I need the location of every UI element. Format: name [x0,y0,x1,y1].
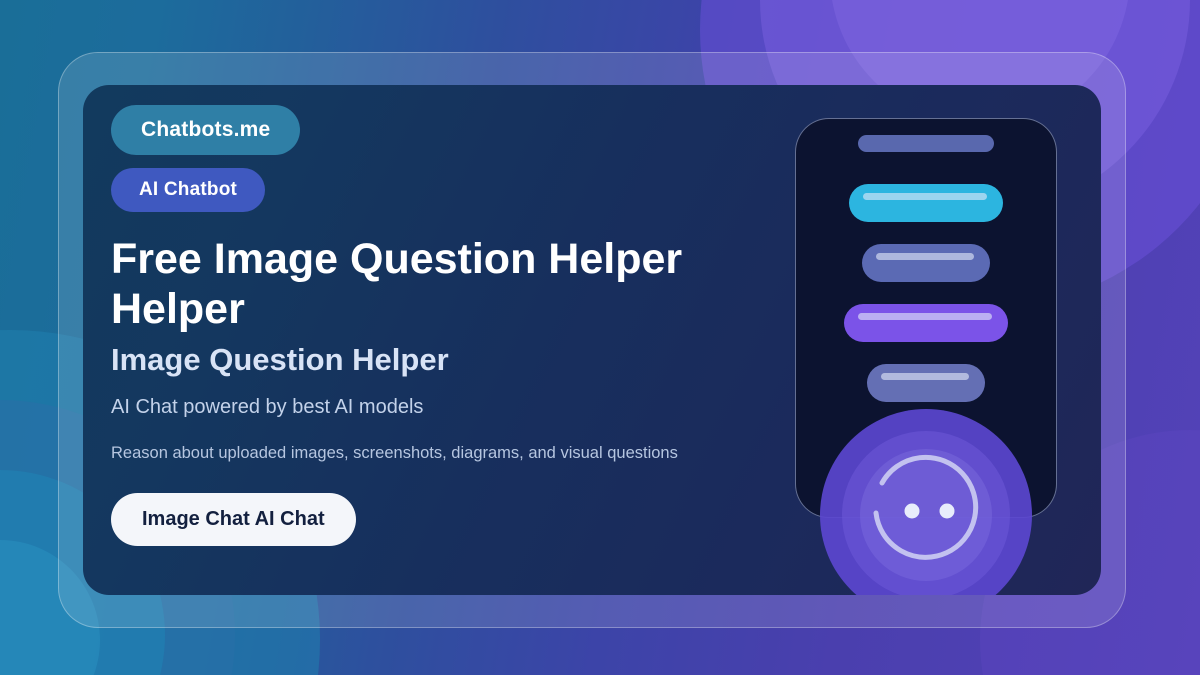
page-subtitle: Image Question Helper [111,340,761,380]
cta-button[interactable]: Image Chat AI Chat [111,493,356,546]
brand-badge[interactable]: Chatbots.me [111,105,300,155]
smiley-face-icon [820,409,1032,595]
phone-status-bar [858,135,994,152]
category-badge[interactable]: AI Chatbot [111,168,265,212]
chat-bubble-1-text-line [863,193,987,200]
brand-badge-row: Chatbots.me [111,105,761,168]
hero-card: Chatbots.me AI Chatbot Free Image Questi… [83,85,1101,595]
tagline: AI Chat powered by best AI models [111,394,761,420]
description: Reason about uploaded images, screenshot… [111,438,726,468]
chat-bubble-4 [867,364,985,402]
chat-bubble-3 [844,304,1008,342]
category-badge-row: AI Chatbot [111,168,761,212]
avatar [820,409,1032,595]
hero-content: Chatbots.me AI Chatbot Free Image Questi… [111,105,761,546]
chat-bubble-3-text-line [858,313,992,320]
chat-bubble-2-text-line [876,253,974,260]
chat-bubble-2 [862,244,990,282]
chat-bubble-4-text-line [881,373,969,380]
page-title: Free Image Question Helper Helper [111,234,701,334]
chat-bubble-1 [849,184,1003,222]
